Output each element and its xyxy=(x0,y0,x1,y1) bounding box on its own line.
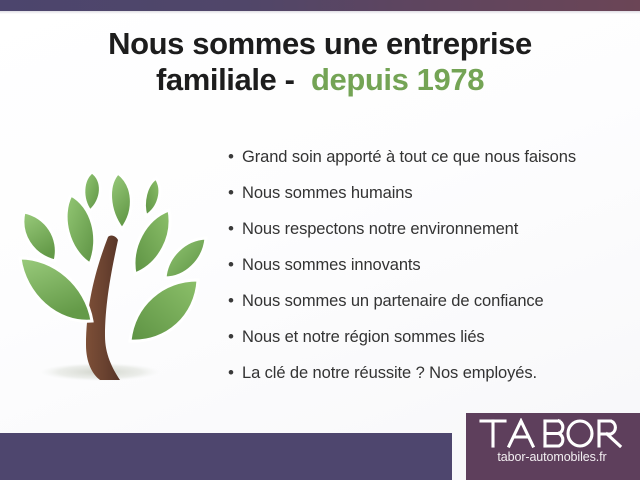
top-accent-strip xyxy=(0,0,640,11)
bullet-icon: • xyxy=(228,328,242,345)
list-item: • La clé de notre réussite ? Nos employé… xyxy=(228,364,628,400)
leaf-upper-right xyxy=(144,178,159,216)
brand-tagline: tabor-automobiles.fr xyxy=(479,450,625,464)
leaf-lower-left xyxy=(20,258,92,321)
value-bullet-list: • Grand soin apporté à tout ce que nous … xyxy=(228,148,628,400)
page-title: Nous sommes une entreprise familiale - d… xyxy=(0,26,640,98)
leaf-mid-right xyxy=(134,210,170,274)
list-item-label: Nous sommes humains xyxy=(242,184,413,203)
leaf-top-center xyxy=(111,173,132,229)
tree-illustration xyxy=(8,140,216,390)
title-line-1: Nous sommes une entreprise xyxy=(0,26,640,62)
title-line-2-prefix: familiale xyxy=(156,62,276,97)
list-item-label: La clé de notre réussite ? Nos employés. xyxy=(242,364,537,383)
title-dash: - xyxy=(276,62,311,97)
bullet-icon: • xyxy=(228,256,242,273)
bullet-icon: • xyxy=(228,292,242,309)
footer-bar-left xyxy=(0,433,452,480)
list-item-label: Nous respectons notre environnement xyxy=(242,220,518,239)
list-item-label: Nous sommes un partenaire de confiance xyxy=(242,292,544,311)
tabor-wordmark-icon xyxy=(479,418,625,448)
list-item: • Grand soin apporté à tout ce que nous … xyxy=(228,148,628,184)
leaf-upper-left xyxy=(84,172,101,211)
list-item: • Nous respectons notre environnement xyxy=(228,220,628,256)
list-item-label: Grand soin apporté à tout ce que nous fa… xyxy=(242,148,576,167)
list-item-label: Nous et notre région sommes liés xyxy=(242,328,485,347)
brand-logo: tabor-automobiles.fr xyxy=(479,418,625,472)
leaf-lower-right xyxy=(130,280,198,341)
bullet-icon: • xyxy=(228,220,242,237)
list-item: • Nous et notre région sommes liés xyxy=(228,328,628,364)
title-highlight: depuis 1978 xyxy=(311,62,484,97)
list-item: • Nous sommes innovants xyxy=(228,256,628,292)
bullet-icon: • xyxy=(228,184,242,201)
list-item: • Nous sommes humains xyxy=(228,184,628,220)
slide-canvas: Nous sommes une entreprise familiale - d… xyxy=(0,0,640,480)
leaf-far-left xyxy=(23,212,56,261)
leaf-far-right xyxy=(165,238,206,278)
list-item: • Nous sommes un partenaire de confiance xyxy=(228,292,628,328)
bullet-icon: • xyxy=(228,148,242,165)
title-line-2: familiale - depuis 1978 xyxy=(0,62,640,98)
list-item-label: Nous sommes innovants xyxy=(242,256,421,275)
top-accent-strip-shadow xyxy=(0,11,640,14)
bullet-icon: • xyxy=(228,364,242,381)
